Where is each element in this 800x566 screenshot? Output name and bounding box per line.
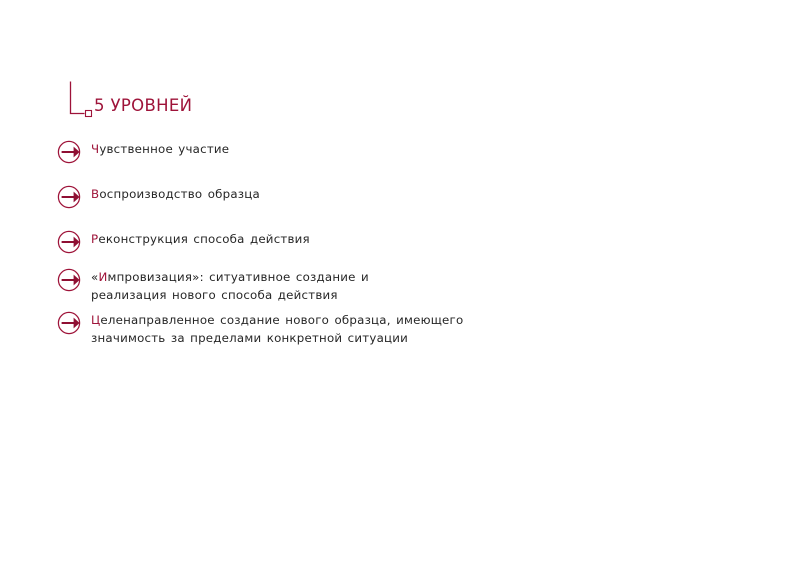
list-item-lead-letter: Ц: [91, 313, 100, 327]
title-block: 5 УРОВНЕЙ: [68, 80, 488, 122]
list-item[interactable]: Целенаправленное создание нового образца…: [56, 309, 756, 348]
list-item-line: значимость за пределами конкретной ситуа…: [91, 329, 756, 347]
list-item[interactable]: «Импровизация»: ситуативное создание и р…: [56, 266, 756, 305]
list-item[interactable]: Реконструкция способа действия: [56, 228, 756, 255]
circled-arrow-right-icon: [56, 310, 86, 336]
list-item-line: реализация нового способа действия: [91, 286, 756, 304]
list-item-line: увственное участие: [99, 142, 229, 156]
list-item-text: Воспроизводство образца: [86, 183, 756, 203]
slide-canvas: 5 УРОВНЕЙ Чувственное участие: [0, 0, 800, 566]
list-item-line: оспроизводство образца: [99, 187, 260, 201]
list-item-text: «Импровизация»: ситуативное создание и р…: [86, 266, 756, 305]
list-item-line: еленаправленное создание нового образца,…: [100, 313, 463, 327]
circled-arrow-right-icon: [56, 267, 86, 293]
page-title: 5 УРОВНЕЙ: [94, 95, 192, 116]
bullet-list: Чувственное участие Воспроизводство обра…: [56, 138, 756, 348]
circled-arrow-right-icon: [56, 184, 86, 210]
list-item[interactable]: Чувственное участие: [56, 138, 756, 165]
circled-arrow-right-icon: [56, 139, 86, 165]
list-item-text: Чувственное участие: [86, 138, 756, 158]
list-item-lead-letter: И: [98, 270, 107, 284]
list-item-line: мпровизация»: ситуативное создание и: [108, 270, 369, 284]
circled-arrow-right-icon: [56, 229, 86, 255]
list-item-text: Целенаправленное создание нового образца…: [86, 309, 756, 348]
list-item-line: еконструкция способа действия: [98, 232, 310, 246]
list-item-text: Реконструкция способа действия: [86, 228, 756, 248]
list-item[interactable]: Воспроизводство образца: [56, 183, 756, 210]
